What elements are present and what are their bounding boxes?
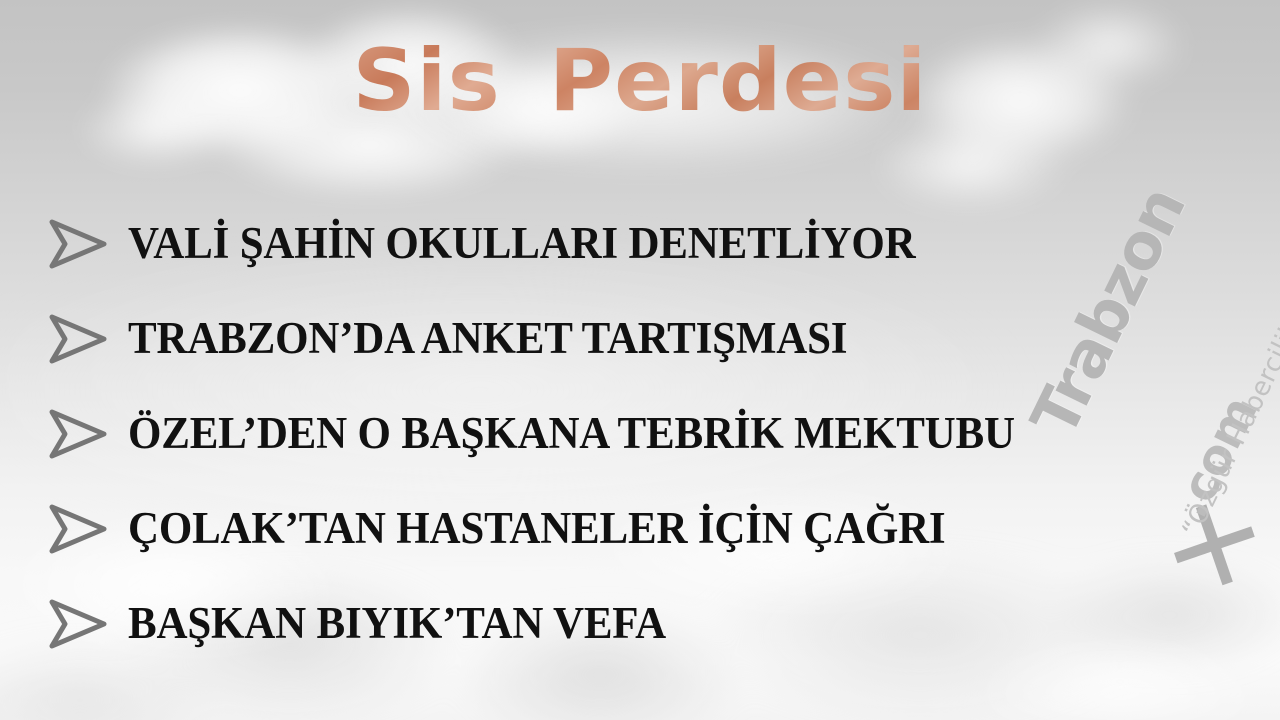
arrow-outline-icon bbox=[46, 596, 108, 652]
list-item[interactable]: BAŞKAN BIYIK’TAN VEFA bbox=[0, 576, 1100, 671]
headline-text: ÇOLAK’TAN HASTANELER İÇİN ÇAĞRI bbox=[128, 506, 945, 551]
headline-text: ÖZEL’DEN O BAŞKANA TEBRİK MEKTUBU bbox=[128, 411, 1015, 456]
headline-text: BAŞKAN BIYIK’TAN VEFA bbox=[128, 601, 666, 646]
slide-canvas: Sis Perdesi VALİ ŞAHİN OKULLARI DENETLİY… bbox=[0, 0, 1280, 720]
list-item[interactable]: ÖZEL’DEN O BAŞKANA TEBRİK MEKTUBU bbox=[0, 386, 1100, 481]
headline-list: VALİ ŞAHİN OKULLARI DENETLİYOR TRABZON’D… bbox=[0, 196, 1100, 671]
arrow-outline-icon bbox=[46, 501, 108, 557]
list-item[interactable]: ÇOLAK’TAN HASTANELER İÇİN ÇAĞRI bbox=[0, 481, 1100, 576]
list-item[interactable]: TRABZON’DA ANKET TARTIŞMASI bbox=[0, 291, 1100, 386]
page-title: Sis Perdesi bbox=[352, 38, 927, 126]
arrow-outline-icon bbox=[46, 406, 108, 462]
arrow-outline-icon bbox=[46, 311, 108, 367]
headline-text: TRABZON’DA ANKET TARTIŞMASI bbox=[128, 316, 847, 361]
title-container: Sis Perdesi bbox=[0, 38, 1280, 126]
list-item[interactable]: VALİ ŞAHİN OKULLARI DENETLİYOR bbox=[0, 196, 1100, 291]
watermark-domain-text: .com bbox=[1163, 389, 1268, 527]
arrow-outline-icon bbox=[46, 216, 108, 272]
headline-text: VALİ ŞAHİN OKULLARI DENETLİYOR bbox=[128, 221, 916, 266]
watermark-x-icon: ✕ bbox=[1146, 479, 1280, 612]
watermark-tagline: “Özgür Habercilik” bbox=[1177, 304, 1280, 542]
